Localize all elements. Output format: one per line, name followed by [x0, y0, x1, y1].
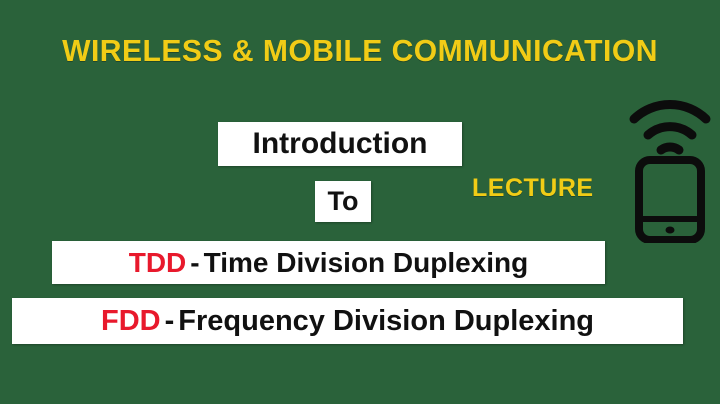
smartphone-wifi-icon	[622, 88, 718, 243]
tdd-abbreviation: TDD	[129, 247, 187, 279]
introduction-label-box: Introduction	[218, 122, 462, 166]
to-label-box: To	[315, 181, 371, 222]
fdd-dash: -	[161, 305, 179, 338]
slide-canvas: WIRELESS & MOBILE COMMUNICATION Introduc…	[0, 0, 720, 404]
smartphone-wifi-icon-svg	[622, 88, 718, 243]
tdd-expansion: Time Division Duplexing	[204, 247, 529, 279]
page-title: WIRELESS & MOBILE COMMUNICATION	[11, 33, 709, 69]
fdd-abbreviation: FDD	[101, 305, 161, 338]
fdd-expansion: Frequency Division Duplexing	[178, 305, 594, 338]
to-text: To	[328, 186, 359, 217]
tdd-dash: -	[186, 247, 203, 279]
introduction-text: Introduction	[253, 127, 428, 161]
fdd-label-box: FDD - Frequency Division Duplexing	[12, 298, 683, 344]
tdd-label-box: TDD - Time Division Duplexing	[52, 241, 605, 284]
lecture-label: LECTURE	[472, 174, 594, 203]
